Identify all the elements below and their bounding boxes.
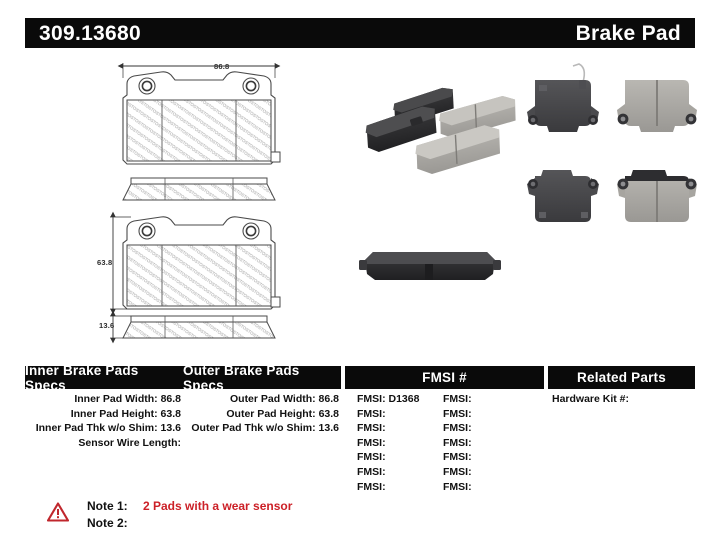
product-photos (355, 52, 715, 352)
outer-specs-list: Outer Pad Width: 86.8 Outer Pad Height: … (183, 392, 341, 436)
spec-row: Outer Pad Height: 63.8 (183, 407, 341, 422)
technical-drawings: STOP (105, 60, 335, 345)
fmsi-row: FMSI: (431, 450, 517, 465)
pad-edge-view-top (123, 178, 275, 200)
fmsi-row: FMSI: (345, 421, 431, 436)
note-2-label: Note 2: (87, 515, 137, 532)
spec-row: Sensor Wire Length: (25, 436, 183, 451)
fmsi-row: FMSI: (345, 436, 431, 451)
photo-edge-view-pad (359, 252, 501, 280)
dimension-label-thickness: 13.6 (99, 321, 114, 330)
spec-row: Inner Pad Height: 63.8 (25, 407, 183, 422)
pad-front-view-bottom (110, 217, 280, 309)
dimension-label-width: 86.8 (214, 62, 229, 71)
column-header-fmsi: FMSI # (345, 366, 544, 389)
fmsi-row: FMSI: (431, 465, 517, 480)
specifications-table: Inner Brake Pads Specs Outer Brake Pads … (25, 366, 695, 496)
fmsi-row: FMSI: (431, 421, 517, 436)
product-illustration-area: STOP (0, 52, 720, 352)
column-header-outer-specs: Outer Brake Pads Specs (183, 366, 341, 389)
spec-row: Inner Pad Width: 86.8 (25, 392, 183, 407)
fmsi-row: FMSI: (431, 436, 517, 451)
fmsi-row: FMSI: D1368 (345, 392, 431, 407)
spec-row: Inner Pad Thk w/o Shim: 13.6 (25, 421, 183, 436)
note-1-value: 2 Pads with a wear sensor (143, 498, 292, 515)
title-bar: 309.13680 Brake Pad (25, 18, 695, 48)
note-2-line: Note 2: (87, 515, 292, 532)
brake-pad-blueprint-svg: STOP (105, 60, 335, 345)
fmsi-list: FMSI: D1368 FMSI: FMSI: FMSI: FMSI: FMSI… (345, 392, 544, 494)
pad-front-view-top (123, 63, 280, 164)
inner-specs-list: Inner Pad Width: 86.8 Inner Pad Height: … (25, 392, 183, 450)
note-1-label: Note 1: (87, 498, 137, 515)
related-parts-list: Hardware Kit #: (548, 392, 695, 407)
spec-row: Outer Pad Thk w/o Shim: 13.6 (183, 421, 341, 436)
part-number: 309.13680 (39, 23, 141, 44)
fmsi-row: FMSI: (345, 465, 431, 480)
spec-row: Outer Pad Width: 86.8 (183, 392, 341, 407)
product-category: Brake Pad (576, 23, 681, 44)
warning-triangle-icon (47, 502, 69, 522)
related-parts-row: Hardware Kit #: (548, 392, 695, 407)
fmsi-row: FMSI: (345, 480, 431, 495)
note-1-line: Note 1: 2 Pads with a wear sensor (87, 498, 292, 515)
fmsi-row: FMSI: (431, 480, 517, 495)
column-header-inner-specs: Inner Brake Pads Specs (25, 366, 183, 389)
fmsi-row: FMSI: (431, 407, 517, 422)
fmsi-row: FMSI: (345, 450, 431, 465)
notes-section: Note 1: 2 Pads with a wear sensor Note 2… (25, 498, 695, 550)
fmsi-row: FMSI: (431, 392, 517, 407)
product-photo-svg (355, 52, 715, 352)
notes-text-block: Note 1: 2 Pads with a wear sensor Note 2… (87, 498, 292, 532)
dimension-label-height: 63.8 (97, 258, 112, 267)
fmsi-row: FMSI: (345, 407, 431, 422)
photo-angled-pad-set (363, 86, 519, 175)
column-header-related-parts: Related Parts (548, 366, 695, 389)
photo-flat-pad-set (527, 64, 697, 222)
pad-edge-view-bottom (110, 316, 275, 338)
